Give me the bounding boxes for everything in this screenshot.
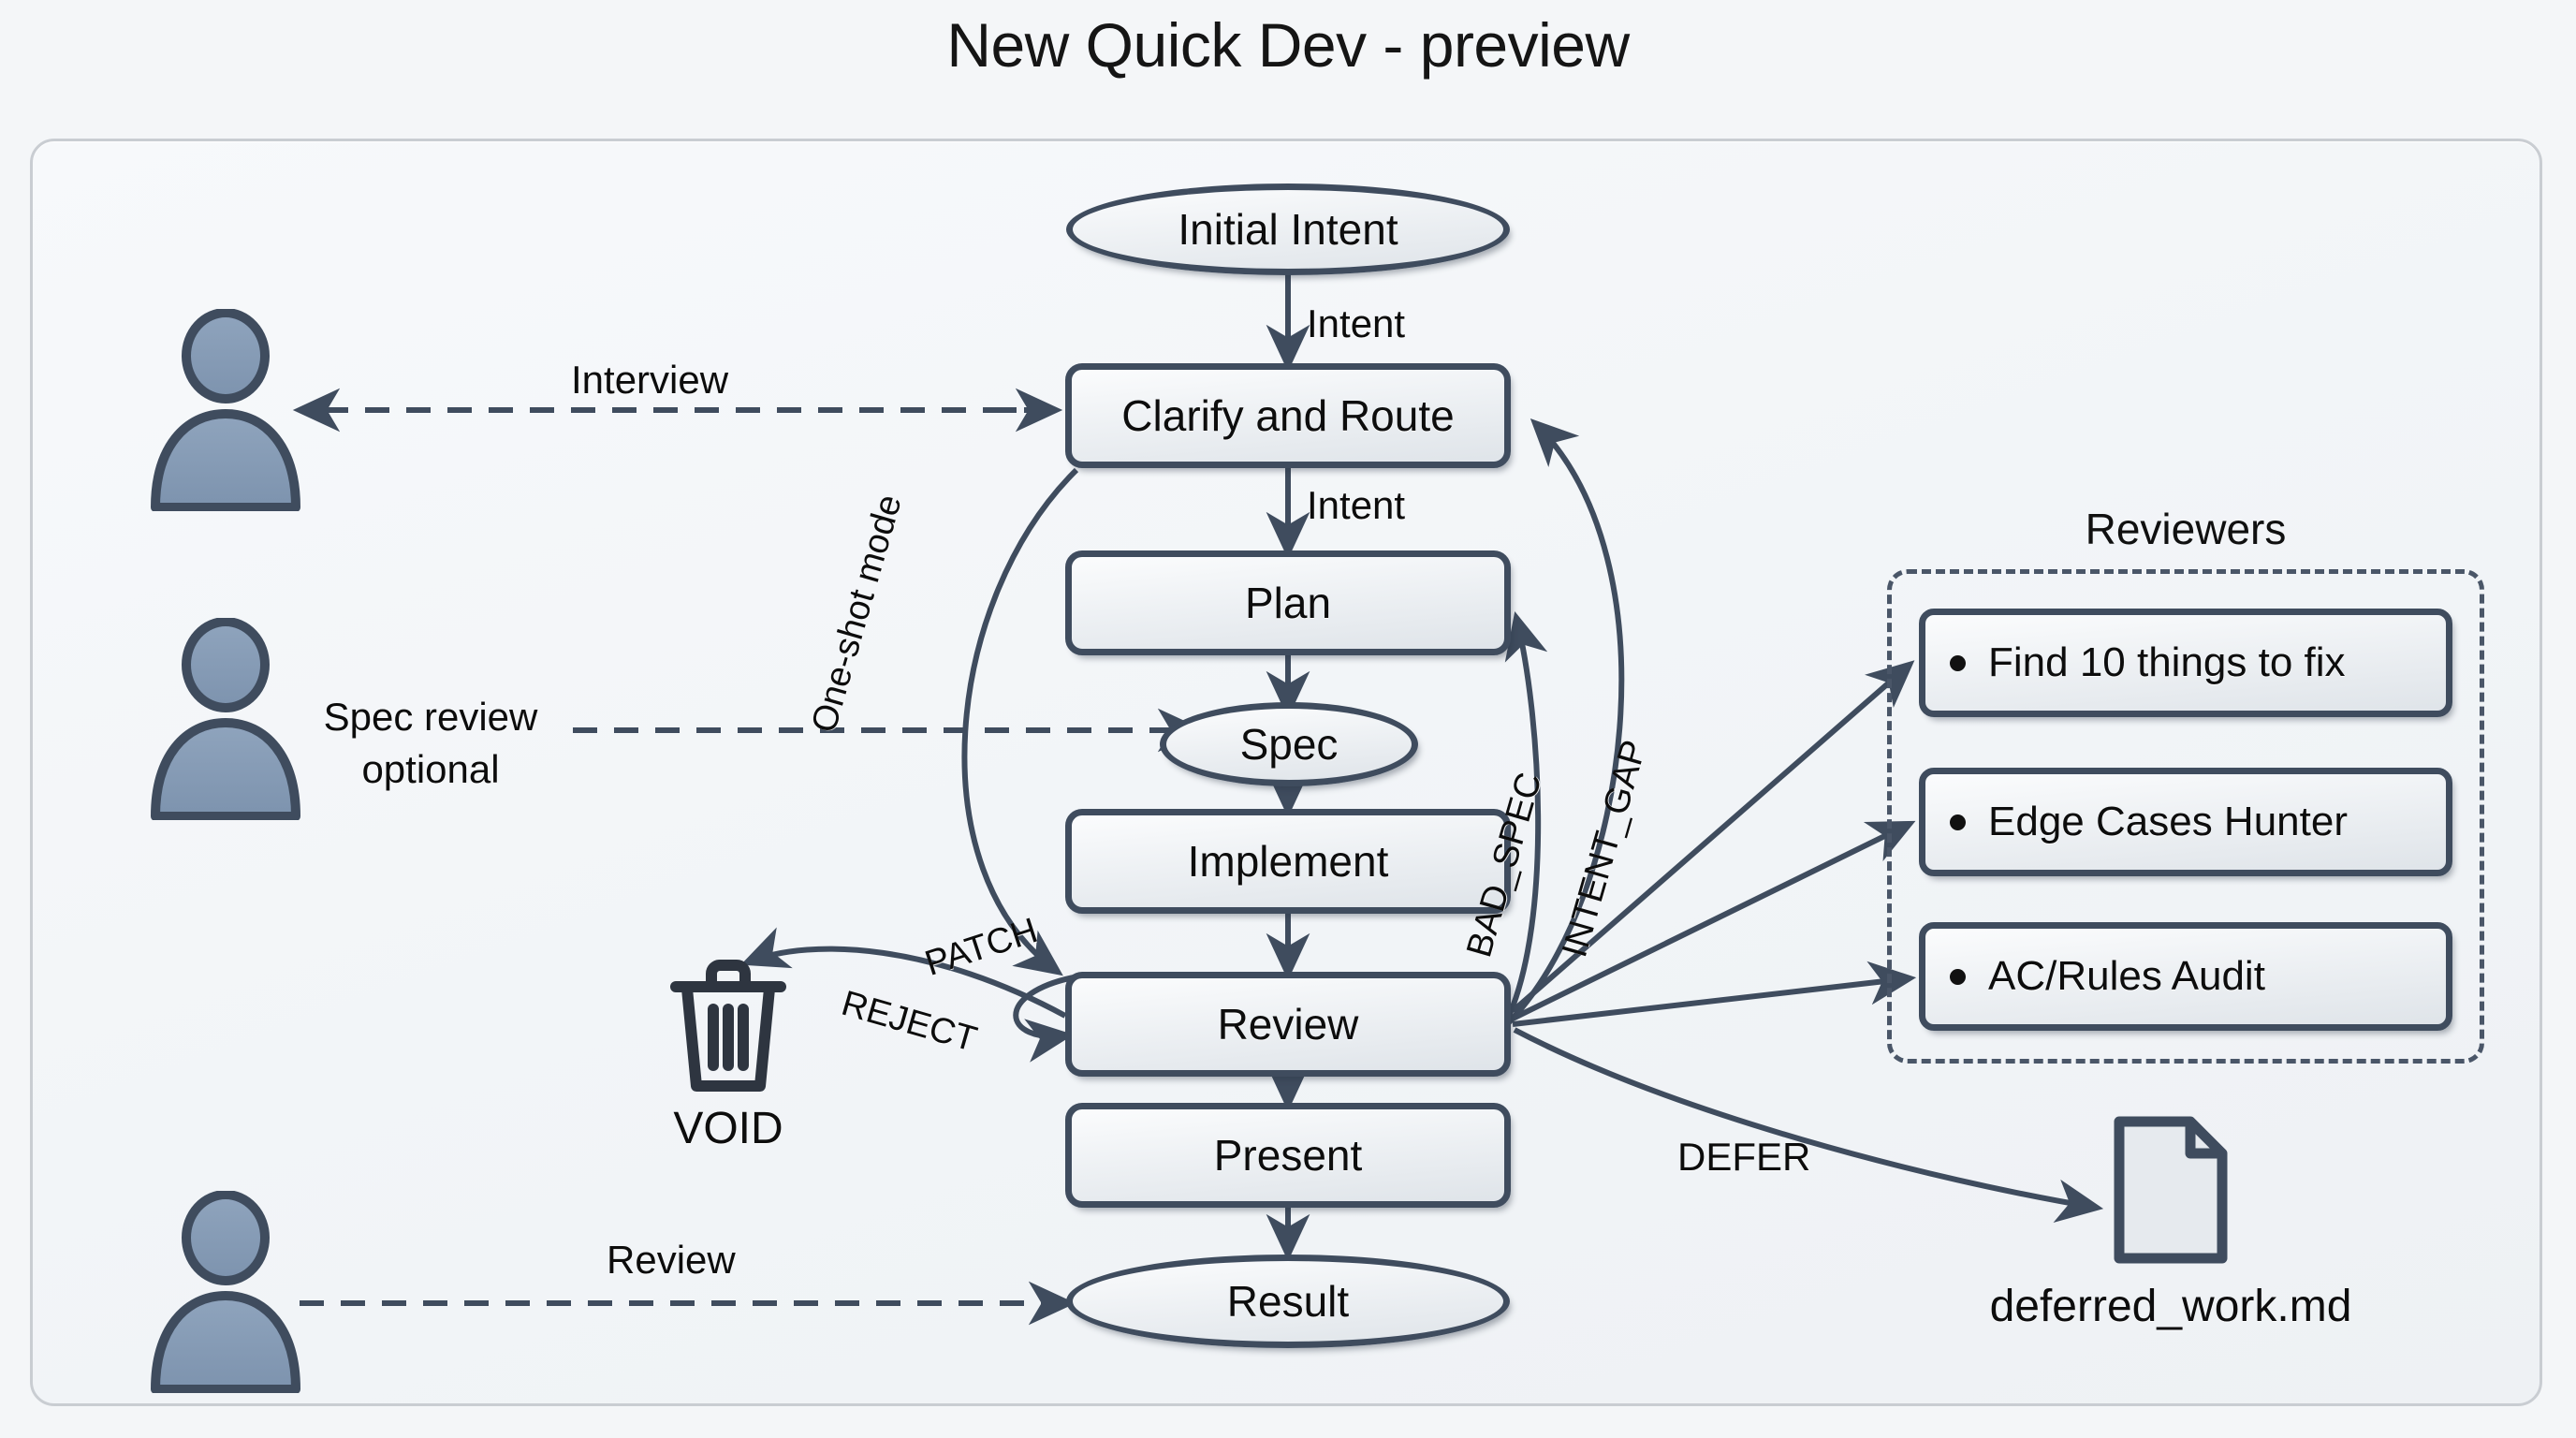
node-result-label: Result — [1227, 1276, 1349, 1327]
reviewer-label: Find 10 things to fix — [1988, 639, 2346, 686]
node-implement[interactable]: Implement — [1065, 809, 1511, 914]
person-icon — [142, 618, 309, 820]
edge-one-shot-mode — [964, 470, 1076, 972]
trash-icon — [663, 955, 794, 1095]
node-spec-label: Spec — [1240, 719, 1339, 770]
artifact-void[interactable] — [663, 955, 794, 1100]
reviewer-edge-cases-hunter[interactable]: Edge Cases Hunter — [1919, 768, 2452, 876]
reviewer-label: AC/Rules Audit — [1988, 953, 2265, 1000]
node-clarify-and-route-label: Clarify and Route — [1121, 390, 1454, 441]
node-initial-intent[interactable]: Initial Intent — [1066, 183, 1510, 275]
bullet-icon — [1950, 655, 1966, 671]
node-result[interactable]: Result — [1066, 1255, 1510, 1348]
node-review[interactable]: Review — [1065, 972, 1511, 1077]
edge-label-interview: Interview — [571, 358, 728, 403]
edge-review-to-reviewer-1 — [1513, 665, 1910, 1011]
artifact-void-caption: VOID — [644, 1103, 812, 1154]
document-icon — [2110, 1112, 2232, 1268]
reviewer-ac-rules-audit[interactable]: AC/Rules Audit — [1919, 922, 2452, 1031]
node-plan[interactable]: Plan — [1065, 550, 1511, 655]
node-present[interactable]: Present — [1065, 1103, 1511, 1208]
bullet-icon — [1950, 814, 1966, 830]
edge-label-intent-2: Intent — [1307, 483, 1405, 528]
node-review-label: Review — [1218, 999, 1359, 1049]
edge-label-spec-review-line1: Spec review — [290, 695, 571, 740]
actor-review[interactable] — [142, 1191, 309, 1393]
edge-label-intent-1: Intent — [1307, 301, 1405, 346]
node-plan-label: Plan — [1245, 578, 1331, 628]
artifact-deferred-work-caption: deferred_work.md — [1906, 1281, 2436, 1332]
artifact-deferred-work[interactable] — [2110, 1112, 2232, 1272]
person-icon — [142, 1191, 309, 1393]
reviewer-find-10-things-to-fix[interactable]: Find 10 things to fix — [1919, 609, 2452, 717]
edge-label-defer: DEFER — [1677, 1135, 1810, 1180]
actor-interview[interactable] — [142, 309, 309, 511]
reviewer-label: Edge Cases Hunter — [1988, 799, 2348, 845]
node-initial-intent-label: Initial Intent — [1178, 204, 1398, 255]
node-clarify-and-route[interactable]: Clarify and Route — [1065, 363, 1511, 468]
edge-label-spec-review-line2: optional — [290, 747, 571, 792]
person-icon — [142, 309, 309, 511]
actor-spec-review[interactable] — [142, 618, 309, 820]
node-implement-label: Implement — [1188, 836, 1389, 887]
bullet-icon — [1950, 969, 1966, 985]
diagram-canvas: New Quick Dev - preview — [0, 0, 2576, 1438]
reviewers-group-title: Reviewers — [1887, 504, 2484, 554]
node-spec[interactable]: Spec — [1160, 702, 1418, 786]
edge-label-review-actor: Review — [607, 1238, 736, 1283]
edge-review-to-reviewer-3 — [1513, 978, 1910, 1024]
node-present-label: Present — [1214, 1130, 1363, 1181]
